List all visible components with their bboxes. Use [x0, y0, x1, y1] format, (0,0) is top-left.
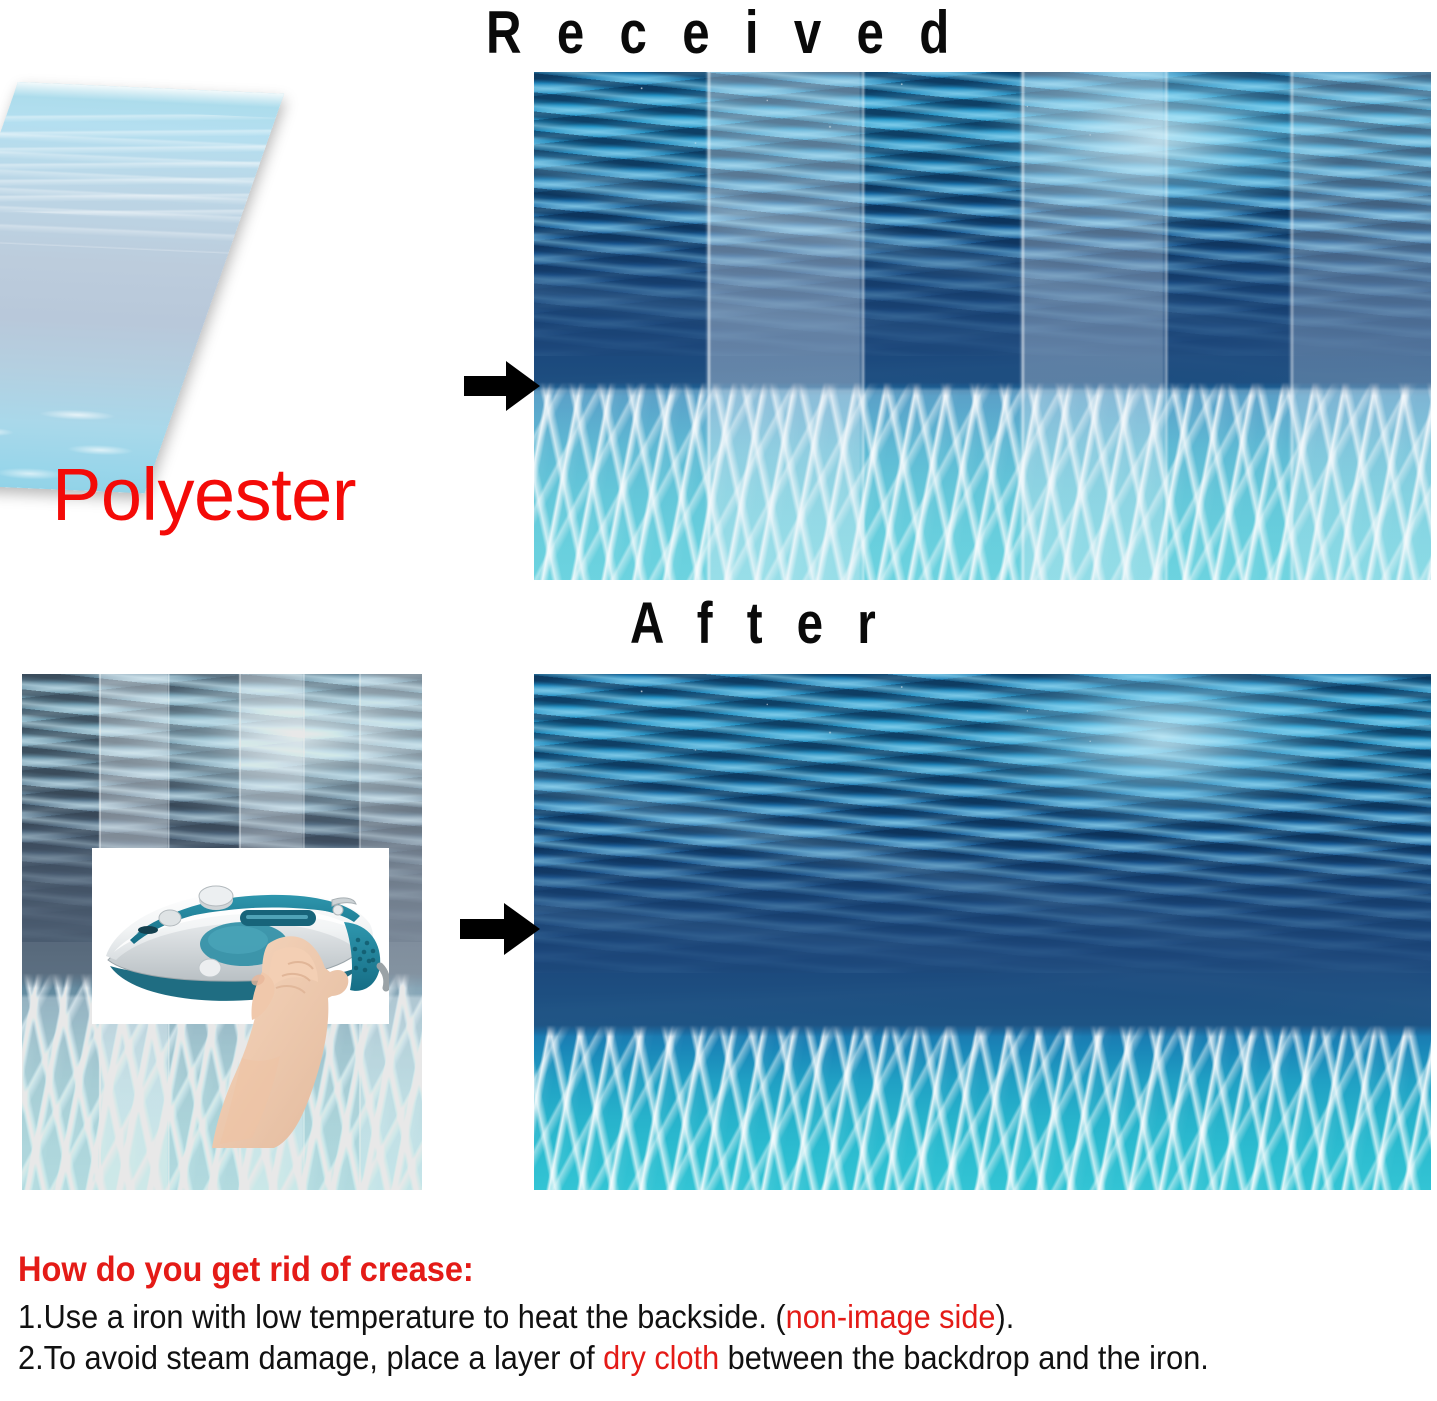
polyester-label: Polyester	[52, 452, 356, 537]
after-backdrop-photo	[534, 674, 1431, 1190]
polyester-swatch-image	[18, 82, 418, 502]
right-arrow-icon	[462, 358, 542, 414]
instructions-block: How do you get rid of crease: 1.Use a ir…	[18, 1252, 1428, 1379]
instructions-heading: How do you get rid of crease:	[18, 1252, 1329, 1289]
received-backdrop-photo	[534, 72, 1431, 580]
steam-iron-photo	[92, 848, 389, 1024]
instruction-1-text-a: 1.Use a iron with low temperature to hea…	[18, 1298, 786, 1335]
fabric-swatch	[0, 82, 284, 493]
instruction-line-1: 1.Use a iron with low temperature to hea…	[18, 1296, 1329, 1338]
seabed-layer	[534, 1025, 1431, 1190]
instruction-1-text-b: ).	[995, 1298, 1014, 1335]
instruction-2-text-b: between the backdrop and the iron.	[719, 1339, 1209, 1376]
swatch-fold-ripples	[0, 106, 276, 222]
right-arrow-icon	[458, 900, 542, 958]
instruction-2-highlight: dry cloth	[603, 1339, 719, 1376]
horizontal-crease-overlay	[534, 72, 1431, 580]
swatch-top-highlight	[13, 82, 284, 108]
instruction-line-2: 2.To avoid steam damage, place a layer o…	[18, 1337, 1329, 1379]
instruction-2-text-a: 2.To avoid steam damage, place a layer o…	[18, 1339, 603, 1376]
bubbles-layer	[534, 674, 1431, 891]
received-heading: R e c e i v e d	[486, 0, 960, 67]
instruction-1-highlight: non-image side	[786, 1298, 996, 1335]
after-heading: A f t e r	[630, 590, 886, 657]
